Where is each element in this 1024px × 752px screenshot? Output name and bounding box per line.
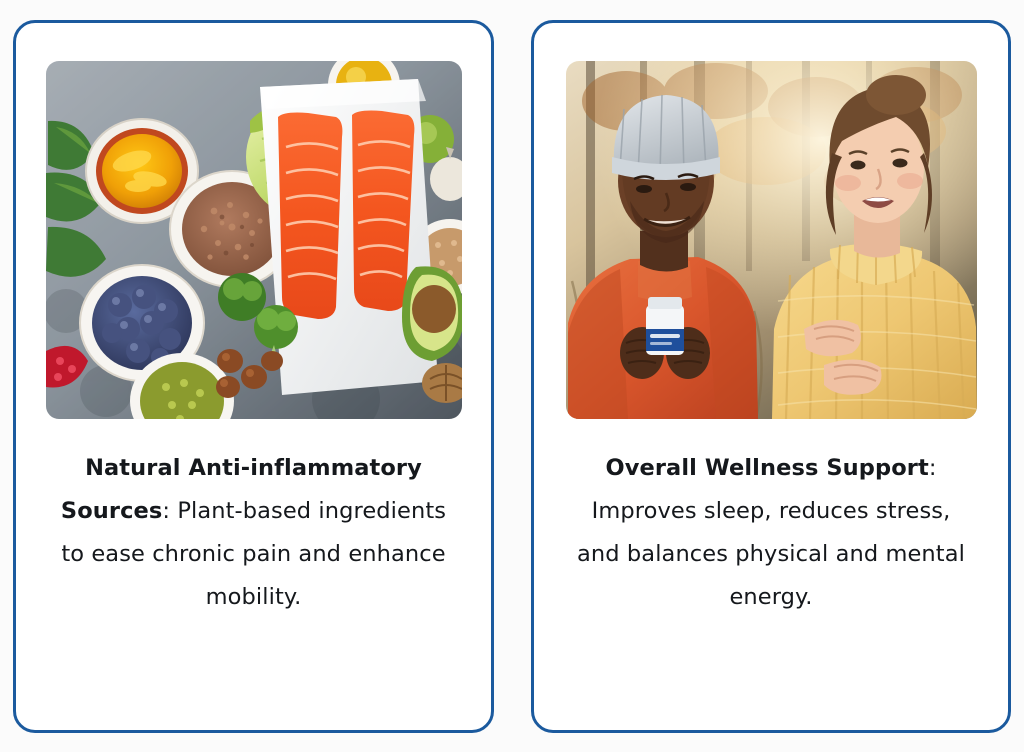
benefit-cards-board: Natural Anti-inflammatory Sources: Plant…: [0, 0, 1024, 752]
card-body: Improves sleep, reduces stress, and bala…: [577, 498, 965, 610]
benefit-card-natural-anti-inflammatory-sources[interactable]: Natural Anti-inflammatory Sources: Plant…: [13, 20, 494, 733]
card-separator: :: [162, 498, 177, 524]
card-caption: Overall Wellness Support: Improves sleep…: [575, 447, 967, 619]
couple-with-supplements-photo: [566, 61, 977, 419]
benefit-card-overall-wellness-support[interactable]: Overall Wellness Support: Improves sleep…: [531, 20, 1011, 733]
card-caption: Natural Anti-inflammatory Sources: Plant…: [54, 447, 454, 619]
card-heading: Overall Wellness Support: [605, 455, 928, 481]
anti-inflammatory-foods-photo: [46, 61, 462, 419]
card-separator: :: [929, 455, 937, 481]
